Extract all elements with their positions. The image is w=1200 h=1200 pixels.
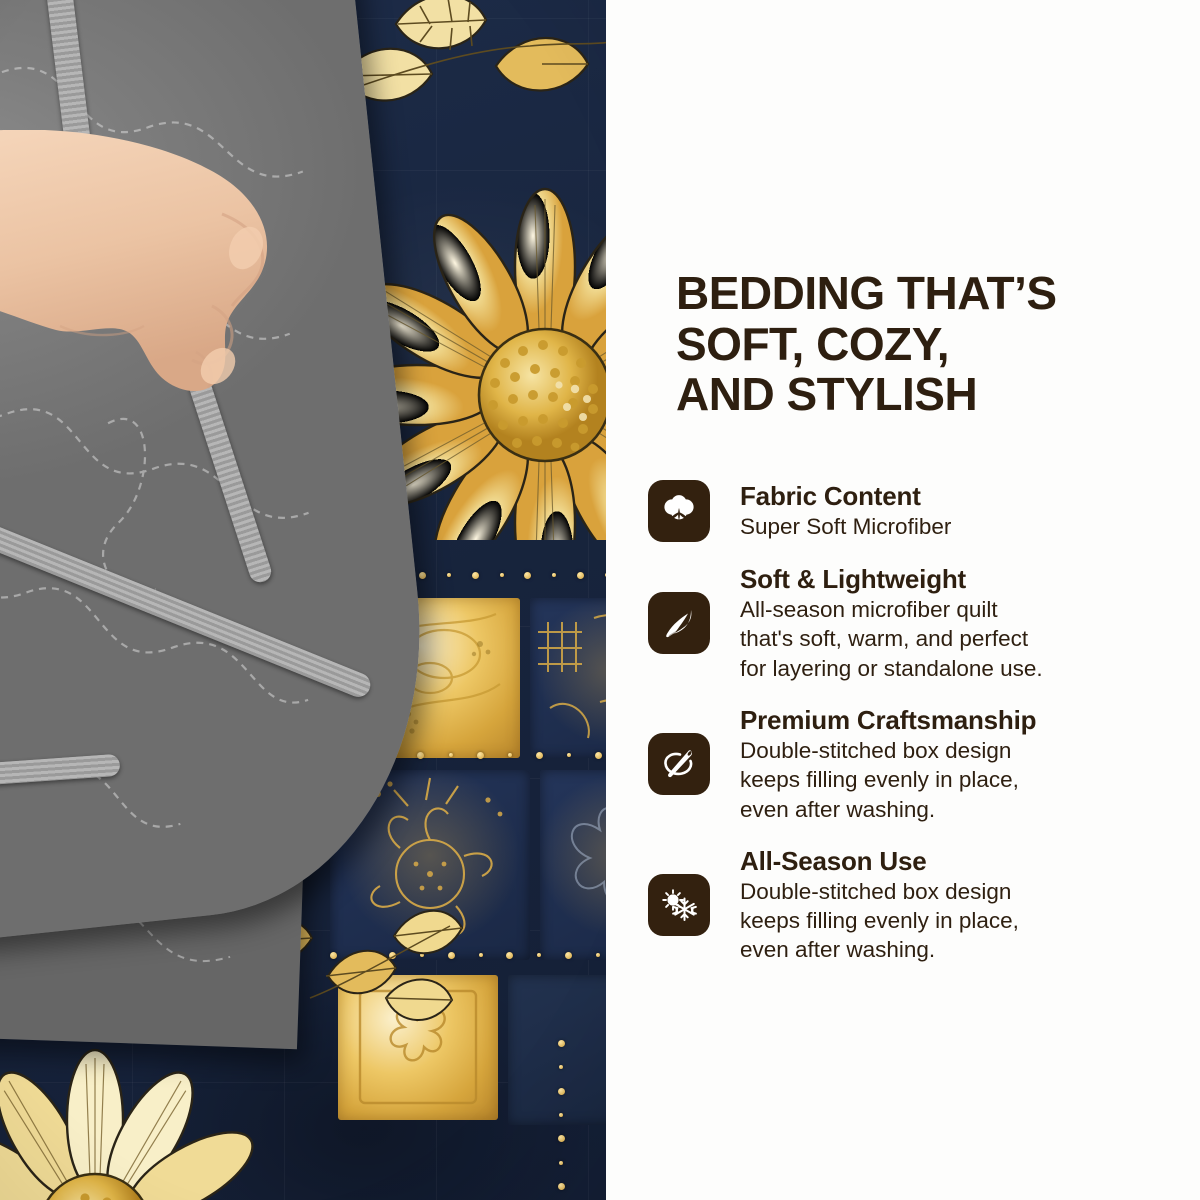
lattice-ornament <box>530 598 606 758</box>
feature-desc-line: Double-stitched box design <box>740 877 1188 906</box>
feature-title: All-Season Use <box>740 846 1188 876</box>
headline-line-2: SOFT, COZY, <box>676 319 1156 370</box>
gold-dot-column-right <box>556 1040 566 1190</box>
feature-item-all-season-use: All-Season Use Double-stitched box desig… <box>648 846 1188 965</box>
product-photo <box>0 0 606 1200</box>
feature-description: Super Soft Microfiber <box>740 512 1188 541</box>
feature-text-block: Fabric Content Super Soft Microfiber <box>740 481 1188 541</box>
clover-ornament <box>540 770 606 960</box>
patchwork-tile-navy-lattice <box>530 598 606 758</box>
feature-desc-line: keeps filling evenly in place, <box>740 906 1188 935</box>
feature-item-premium-craftsmanship: Premium Craftsmanship Double-stitched bo… <box>648 705 1188 824</box>
features-list: Fabric Content Super Soft Microfiber Sof… <box>648 480 1188 965</box>
headline-line-1: BEDDING THAT’S <box>676 268 1156 319</box>
feature-desc-line: even after washing. <box>740 935 1188 964</box>
headline-line-3: AND STYLISH <box>676 369 1156 420</box>
feature-desc-line: keeps filling evenly in place, <box>740 765 1188 794</box>
feature-title: Premium Craftsmanship <box>740 705 1188 735</box>
feature-description: Double-stitched box design keeps filling… <box>740 736 1188 824</box>
feature-text-block: Soft & Lightweight All-season microfiber… <box>740 564 1188 683</box>
cotton-boll-icon <box>648 480 710 542</box>
feature-title: Fabric Content <box>740 481 1188 511</box>
feature-desc-line: Super Soft Microfiber <box>740 512 1188 541</box>
feature-text-block: Premium Craftsmanship Double-stitched bo… <box>740 705 1188 824</box>
feature-text-block: All-Season Use Double-stitched box desig… <box>740 846 1188 965</box>
feature-desc-line: for layering or standalone use. <box>740 654 1188 683</box>
feature-desc-line: All-season microfiber quilt <box>740 595 1188 624</box>
page-title: BEDDING THAT’S SOFT, COZY, AND STYLISH <box>676 268 1156 420</box>
feature-description: Double-stitched box design keeps filling… <box>740 877 1188 965</box>
patchwork-tile-navy-clover <box>540 770 606 960</box>
hand <box>0 130 340 450</box>
feature-description: All-season microfiber quilt that's soft,… <box>740 595 1188 683</box>
product-infographic: BEDDING THAT’S SOFT, COZY, AND STYLISH <box>0 0 1200 1200</box>
feature-desc-line: even after washing. <box>740 795 1188 824</box>
feather-icon <box>648 592 710 654</box>
needle-thread-icon <box>648 733 710 795</box>
feature-desc-line: Double-stitched box design <box>740 736 1188 765</box>
feature-list-panel: BEDDING THAT’S SOFT, COZY, AND STYLISH <box>606 0 1200 1200</box>
sun-snowflake-icon <box>648 874 710 936</box>
feature-item-soft-lightweight: Soft & Lightweight All-season microfiber… <box>648 564 1188 683</box>
feature-title: Soft & Lightweight <box>740 564 1188 594</box>
feature-item-fabric-content: Fabric Content Super Soft Microfiber <box>648 480 1188 542</box>
feature-desc-line: that's soft, warm, and perfect <box>740 624 1188 653</box>
